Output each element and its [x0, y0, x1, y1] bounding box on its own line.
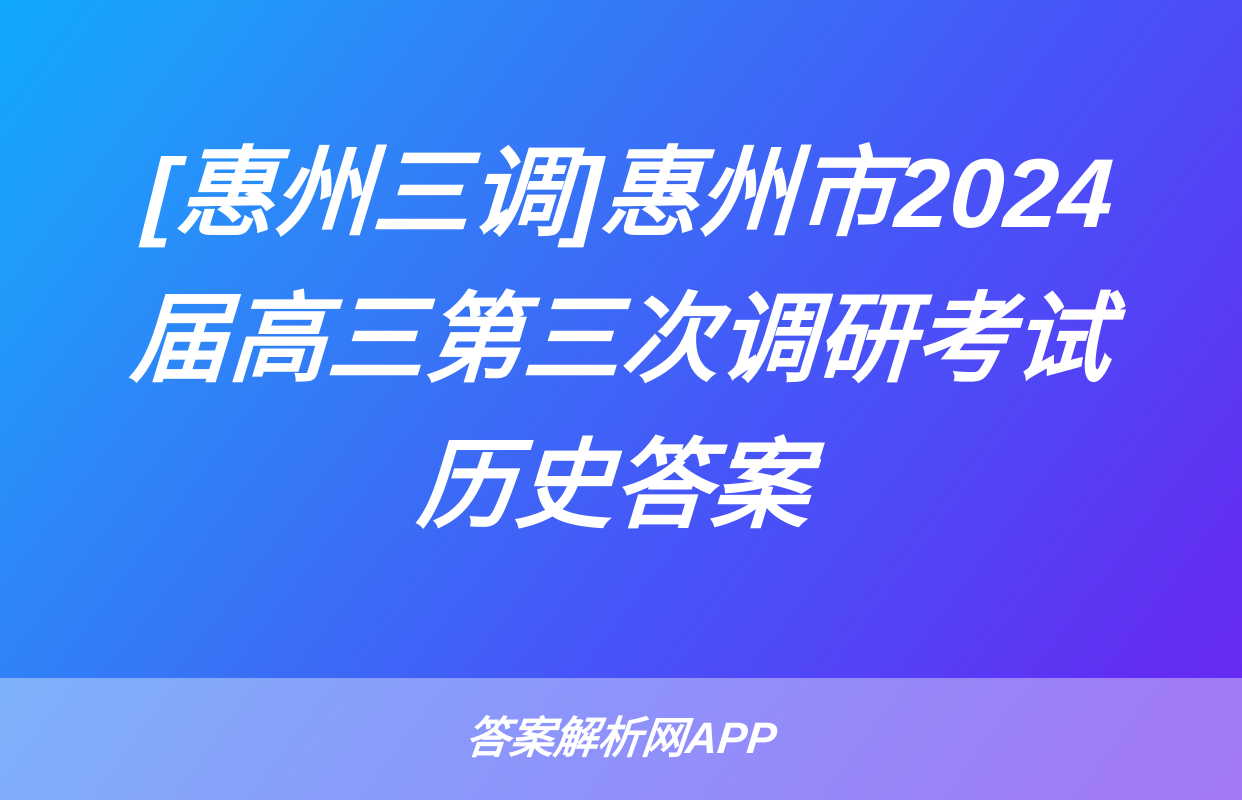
watermark-label: 答案解析网APP: [463, 717, 778, 761]
headline-container: [惠州三调]惠州市2024届高三第三次调研考试历史答案: [0, 0, 1242, 678]
watermark-band: 答案解析网APP: [0, 678, 1242, 800]
page-title: [惠州三调]惠州市2024届高三第三次调研考试历史答案: [80, 120, 1163, 558]
gradient-banner: [惠州三调]惠州市2024届高三第三次调研考试历史答案 答案解析网APP: [0, 0, 1242, 800]
